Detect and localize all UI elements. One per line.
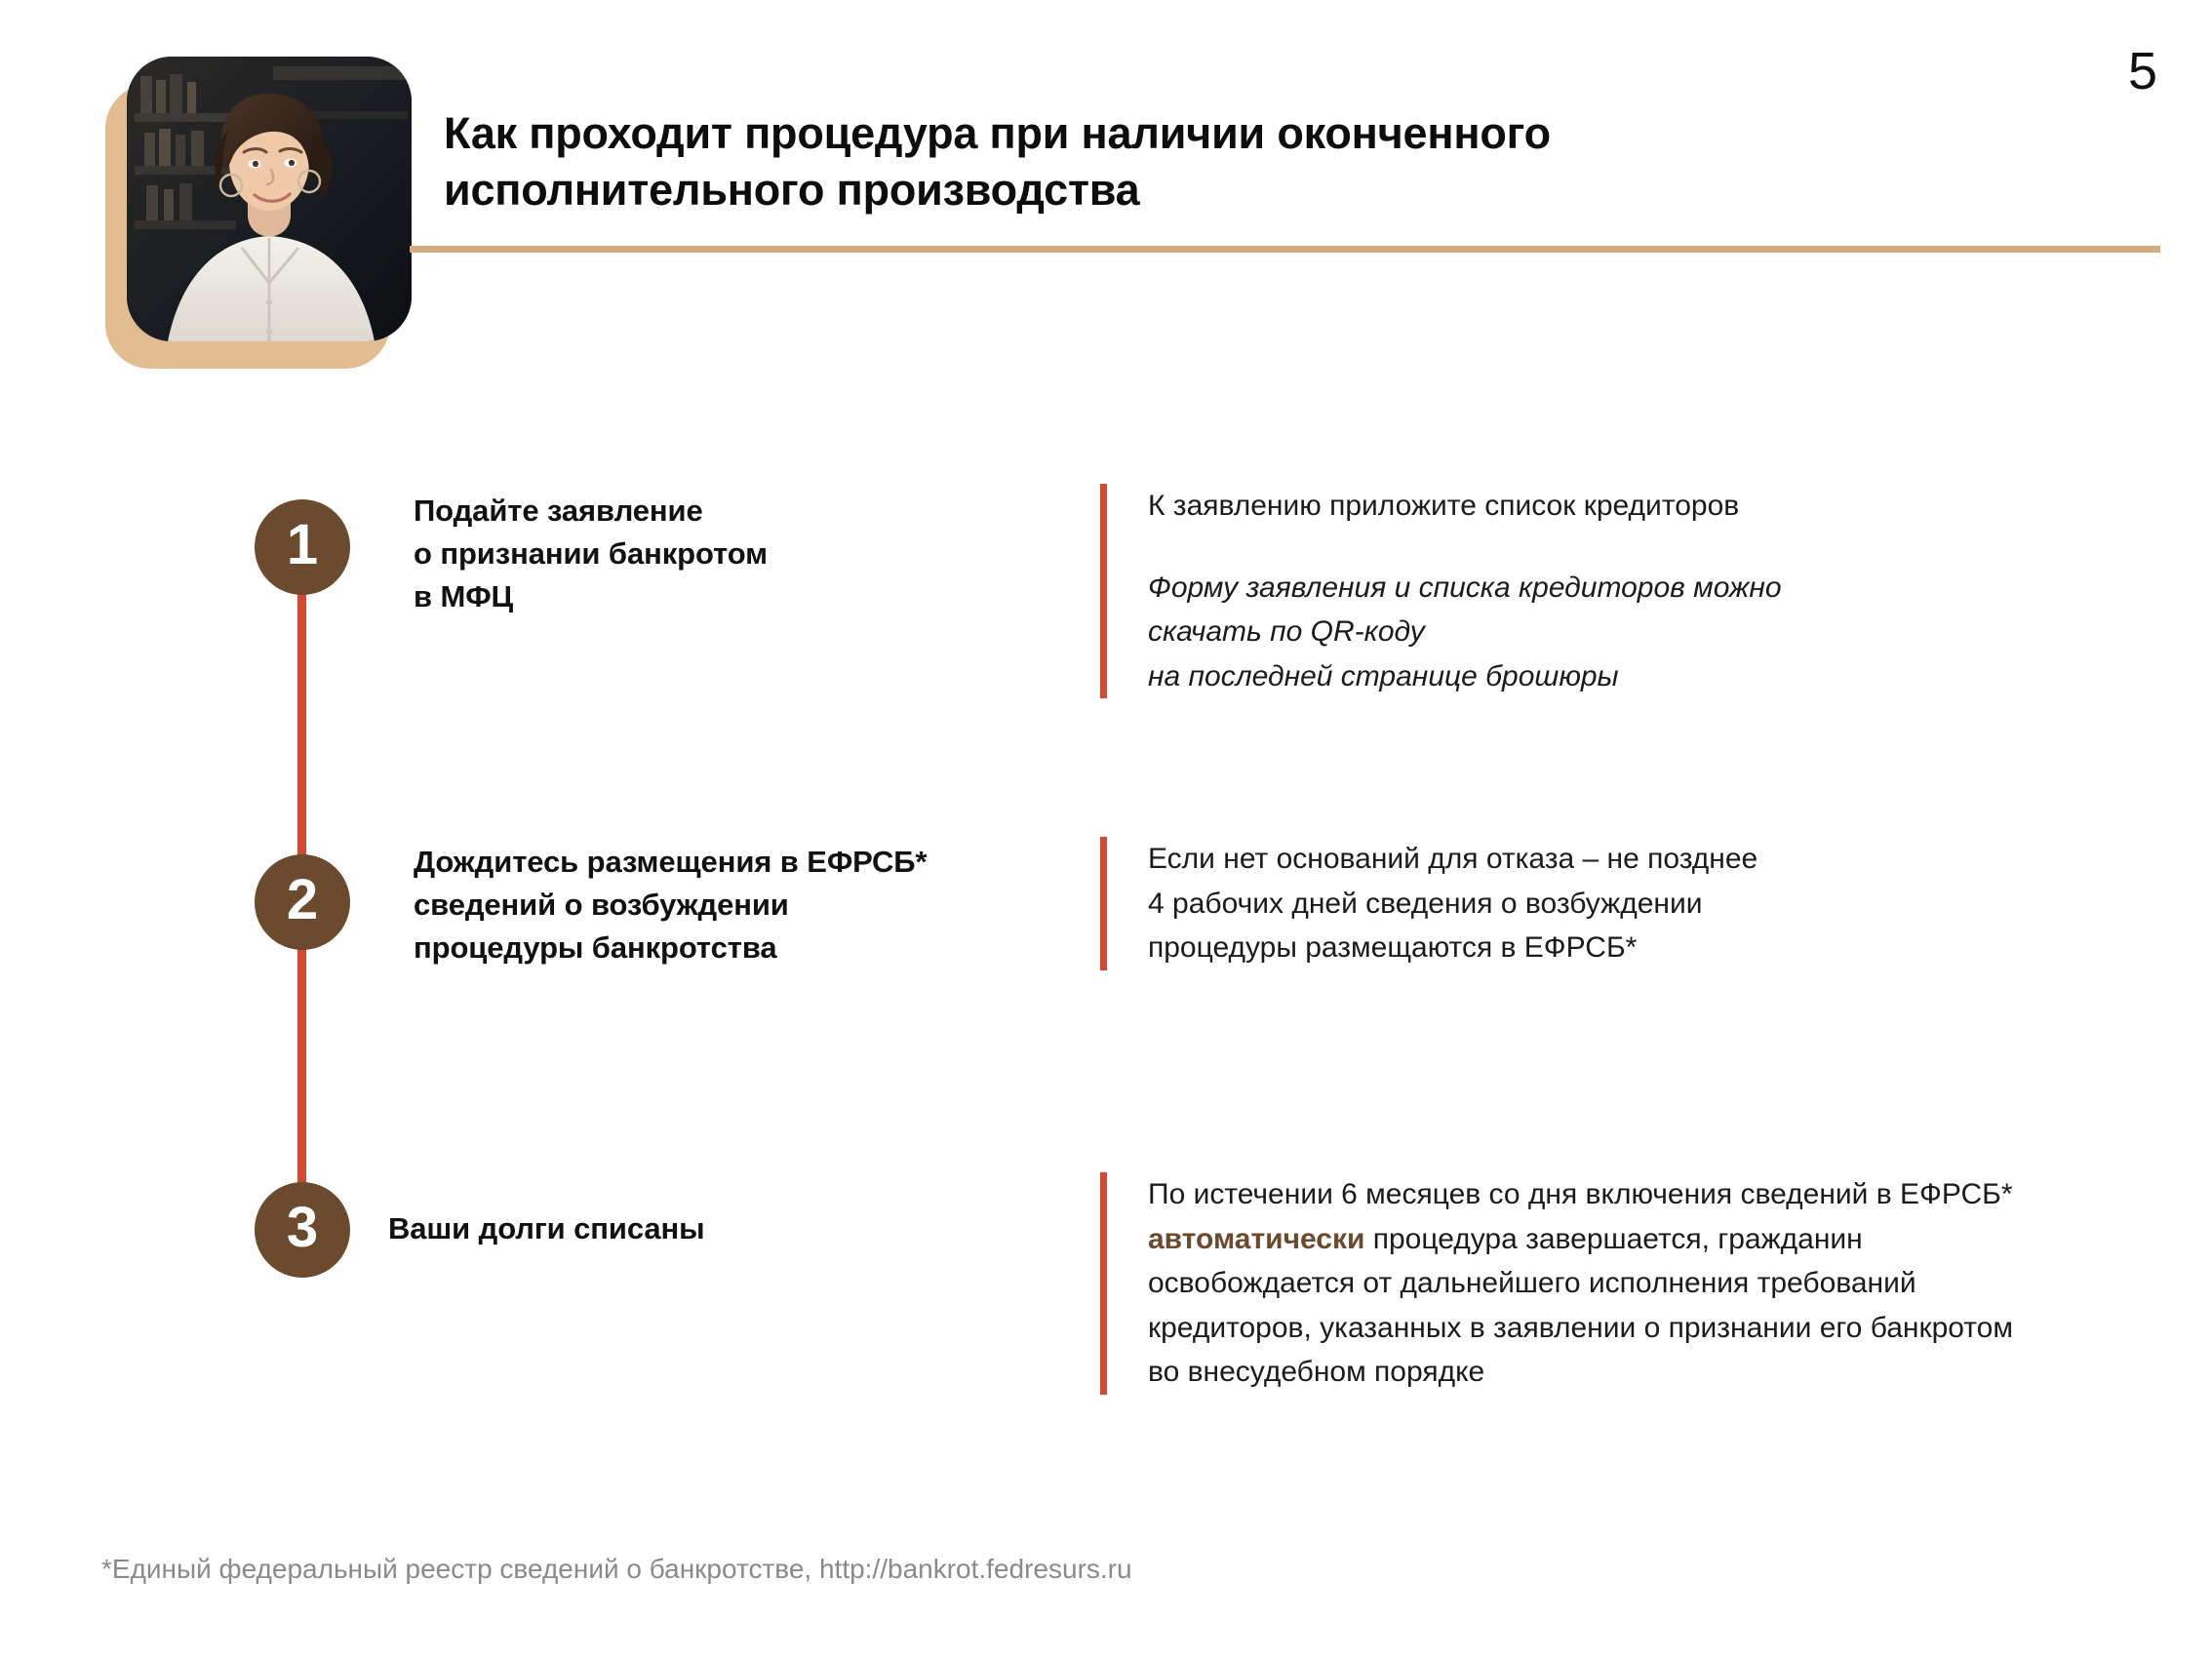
- step-number-2: 2: [287, 872, 318, 928]
- page-title: Как проходит процедура при наличии оконч…: [444, 105, 1907, 217]
- step-detail-3: По истечении 6 месяцев со дня включения …: [1100, 1172, 2017, 1395]
- step-detail-1-line-1: К заявлению приложите список кредиторов: [1148, 484, 2075, 529]
- page-title-line-2: исполнительного производства: [444, 162, 1907, 218]
- step-badge-2: 2: [255, 854, 350, 950]
- step-title-2: Дождитесь размещения в ЕФРСБ* сведений о…: [414, 841, 1096, 969]
- step-number-3: 3: [287, 1200, 318, 1256]
- step-number-1: 1: [287, 517, 318, 573]
- step-detail-3-highlight: автоматически: [1148, 1223, 1364, 1255]
- step-title-1-line-1: Подайте заявление: [414, 490, 921, 533]
- step-title-2-line-3: процедуры банкротства: [414, 927, 1096, 969]
- step-badge-3: 3: [255, 1182, 350, 1278]
- step-detail-3-text: По истечении 6 месяцев со дня включения …: [1148, 1172, 2017, 1395]
- step-detail-1-line-3: скачать по QR-коду: [1148, 610, 2075, 654]
- page-title-line-1: Как проходит процедура при наличии оконч…: [444, 105, 1907, 162]
- step-title-2-line-1: Дождитесь размещения в ЕФРСБ*: [414, 841, 1096, 884]
- step-title-1: Подайте заявление о признании банкротом …: [414, 490, 921, 618]
- step-detail-2-line-2: 4 рабочих дней сведения о возбуждении: [1148, 882, 2075, 927]
- step-title-3-line-1: Ваши долги списаны: [388, 1207, 934, 1250]
- step-detail-1: К заявлению приложите список кредиторов …: [1100, 484, 2075, 698]
- step-detail-2-line-3: процедуры размещаются в ЕФРСБ*: [1148, 926, 2075, 970]
- step-title-1-line-2: о признании банкротом: [414, 533, 921, 575]
- step-badge-1: 1: [255, 499, 350, 595]
- step-detail-2: Если нет оснований для отказа – не поздн…: [1100, 837, 2075, 970]
- step-title-3: Ваши долги списаны: [388, 1207, 934, 1250]
- step-title-1-line-3: в МФЦ: [414, 575, 921, 618]
- step-detail-1-line-4: на последней странице брошюры: [1148, 654, 2075, 699]
- page-number: 5: [2128, 45, 2157, 98]
- title-divider: [410, 246, 2160, 253]
- slide-canvas: 5 Как проходит процедура при наличии око…: [0, 0, 2212, 1659]
- header-photo: [105, 57, 408, 359]
- footnote: *Единый федеральный реестр сведений о ба…: [101, 1552, 1132, 1587]
- portrait-photo: [127, 57, 412, 341]
- step-detail-2-line-1: Если нет оснований для отказа – не поздн…: [1148, 837, 2075, 882]
- step-detail-1-line-2: Форму заявления и списка кредиторов можн…: [1148, 566, 2075, 611]
- step-detail-3-part-1: По истечении 6 месяцев со дня включения …: [1148, 1178, 2013, 1210]
- step-title-2-line-2: сведений о возбуждении: [414, 884, 1096, 927]
